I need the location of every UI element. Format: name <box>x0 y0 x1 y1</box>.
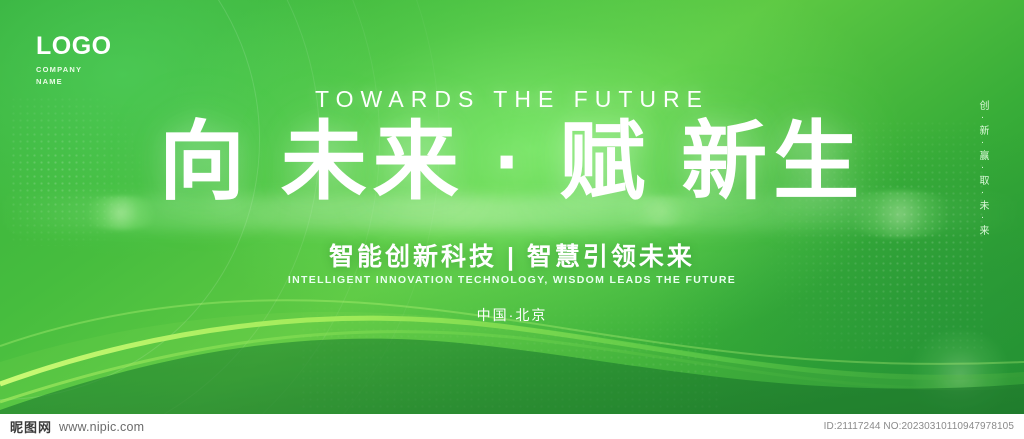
screenshot-root: LOGO COMPANY NAME TOWARDS THE FUTURE 向 未… <box>0 0 1024 439</box>
poster-artwork: LOGO COMPANY NAME TOWARDS THE FUTURE 向 未… <box>0 0 1024 414</box>
image-id-text: ID:21117244 NO:20230310110947978105 <box>824 421 1014 432</box>
eyebrow-text: TOWARDS THE FUTURE <box>0 86 1024 113</box>
subheadline-english: INTELLIGENT INNOVATION TECHNOLOGY, WISDO… <box>0 274 1024 286</box>
logo-block: LOGO COMPANY NAME <box>36 34 112 87</box>
watermark-brand-group: 昵图网 www.nipic.com <box>10 417 144 436</box>
vertical-slogan: 创·新·赢·取·未·来 <box>970 100 994 237</box>
watermark-footer-bar: 昵图网 www.nipic.com ID:21117244 NO:2023031… <box>0 414 1024 439</box>
logo-subtitle-line1: COMPANY <box>36 64 112 76</box>
logo-text: LOGO <box>36 34 112 59</box>
nipic-logo-text: 昵图网 <box>10 417 52 436</box>
nipic-url-text: www.nipic.com <box>59 420 144 434</box>
subheadline-chinese: 智能创新科技 | 智慧引领未来 <box>0 237 1024 273</box>
location-text: 中国·北京 <box>0 297 1024 325</box>
headline-text: 向 未来 · 赋 新生 <box>0 116 1024 209</box>
logo-subtitle: COMPANY NAME <box>36 64 112 87</box>
